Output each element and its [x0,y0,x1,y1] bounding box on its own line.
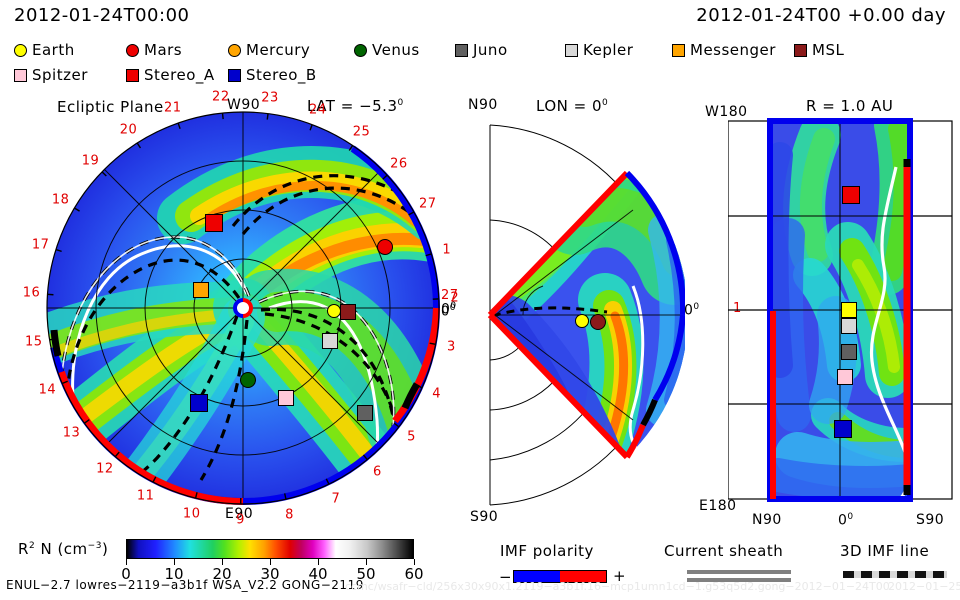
colorbar-label: R2 N (cm−3) [18,540,108,558]
body-marker-kepler[interactable] [841,318,857,334]
body-marker-stereo-a[interactable] [842,186,860,204]
current-sheath-title: Current sheath [664,542,783,560]
colorbar-label-sup2: −3 [88,541,102,551]
imf-line-title: 3D IMF line [840,542,929,560]
colorbar-label-main: R [18,540,29,558]
colorbar-gradient[interactable] [126,539,414,559]
body-marker-earth[interactable] [841,302,857,318]
body-marker-stereo-b[interactable] [834,420,852,438]
imf-polarity-title: IMF polarity [500,542,594,560]
imf-line-dashed [843,571,947,578]
footer-watermark-date: 2012−01−25 [888,580,960,593]
colorbar-ticks: 0102030405060 [126,559,414,579]
current-sheath-line-top [687,570,791,574]
colorbar-label-close: ) [102,540,108,558]
footer-watermark: ccmc/wsafr−cld/256x30x90x1.2119−a3b1f.16… [345,580,890,593]
colorbar-label-sup: 2 [29,541,35,551]
colorbar-label-rest: N (cm [40,540,87,558]
body-marker-spitzer[interactable] [837,369,853,385]
shell-bodies[interactable] [0,0,960,540]
body-marker-juno[interactable] [841,344,857,360]
footer-run-id: ENUL−2.7 lowres−2119−a3b1f WSA_V2.2 GONG… [6,578,364,592]
